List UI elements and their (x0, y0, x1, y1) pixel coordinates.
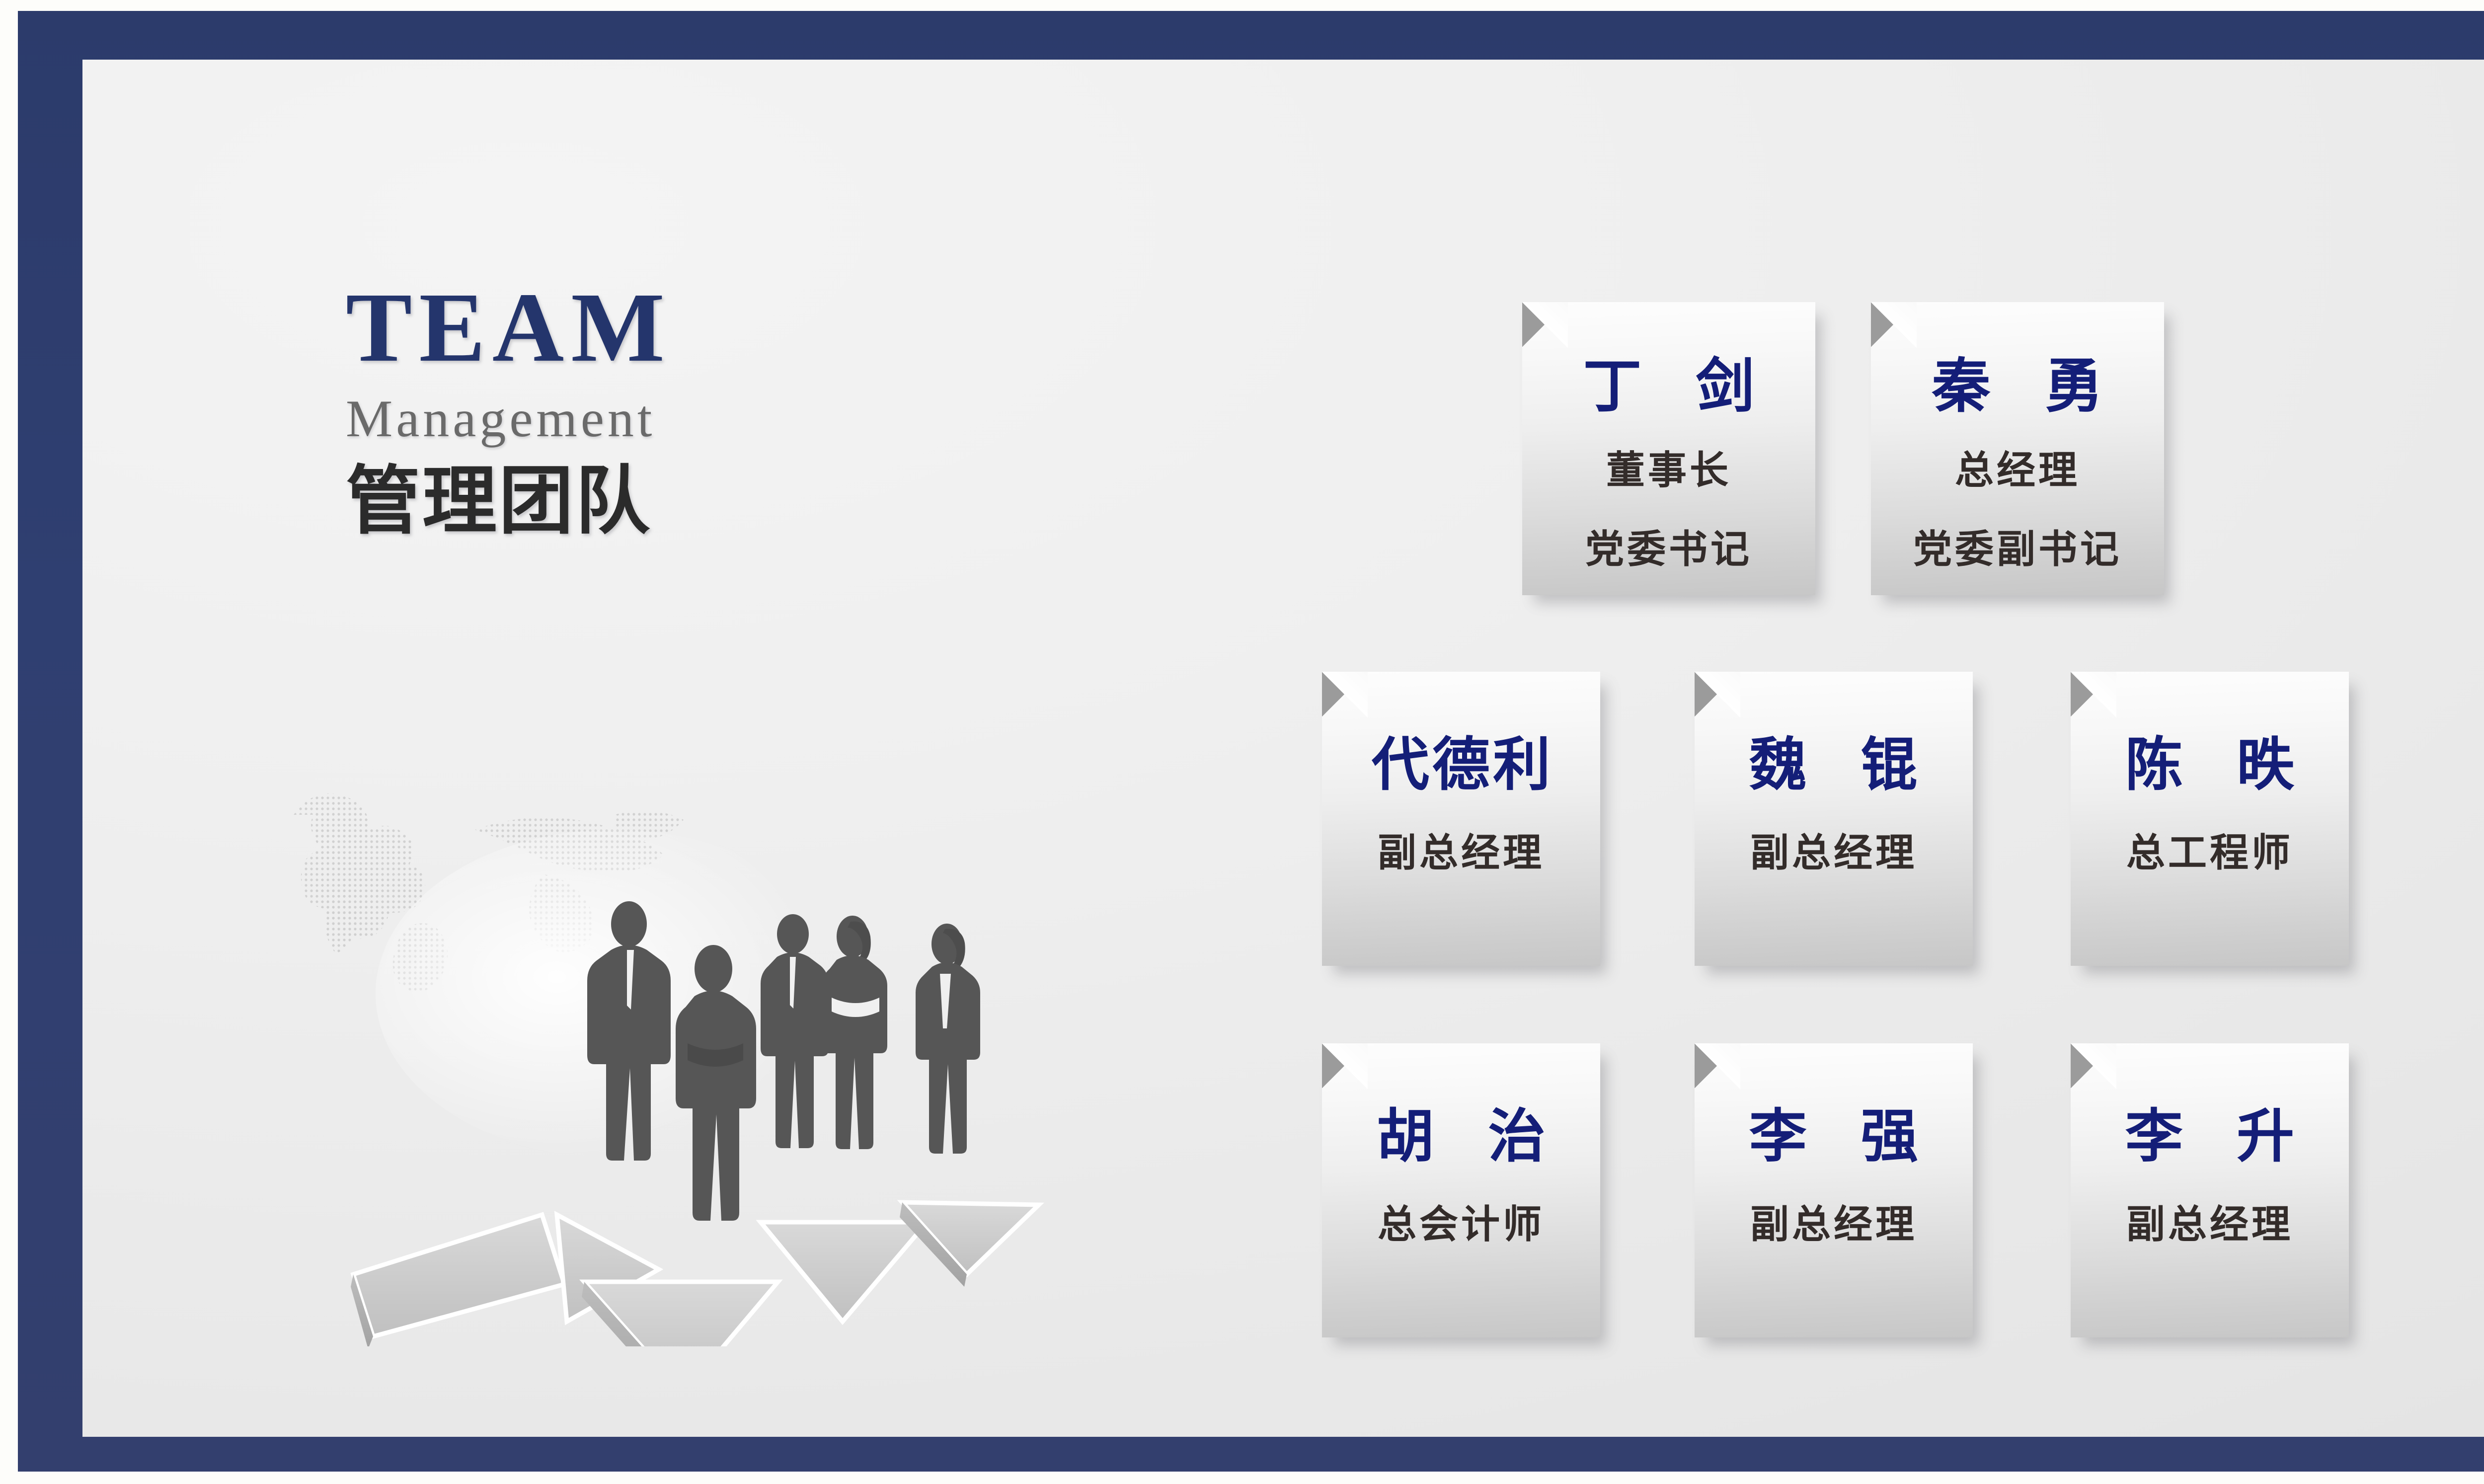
leader-name: 李 强 (1732, 1108, 1935, 1166)
folded-corner-icon (1322, 1043, 1367, 1088)
slide-canvas: TEAM Management 管理团队 (0, 0, 2484, 1484)
leader-name: 代德利 (1369, 736, 1553, 794)
folded-corner-icon (1695, 672, 1739, 716)
slide-content-panel: TEAM Management 管理团队 (82, 60, 2484, 1437)
leader-card[interactable]: 胡 治 总会计师 (1322, 1043, 1600, 1337)
leader-name: 秦 勇 (1915, 357, 2120, 415)
leadership-card-grid: 丁 剑 董事长 党委书记 秦 勇 总经理 党委副书记 代德利 副总经理 (82, 60, 2484, 1437)
leader-card[interactable]: 丁 剑 董事长 党委书记 (1522, 302, 1815, 595)
leader-title-1: 副总经理 (1378, 830, 1545, 877)
leader-title-2: 党委书记 (1585, 526, 1752, 573)
leader-name: 魏 锟 (1732, 736, 1935, 794)
leader-name: 胡 治 (1360, 1108, 1562, 1166)
folded-corner-icon (2071, 672, 2115, 716)
leader-title-1: 副总经理 (2126, 1201, 2293, 1249)
folded-corner-icon (1522, 302, 1567, 347)
leader-card[interactable]: 代德利 副总经理 (1322, 672, 1600, 966)
leader-card[interactable]: 李 升 副总经理 (2071, 1043, 2349, 1337)
leader-title-1: 总经理 (1955, 447, 2080, 494)
leader-card[interactable]: 魏 锟 副总经理 (1695, 672, 1973, 966)
leader-title-2: 党委副书记 (1913, 526, 2122, 573)
folded-corner-icon (2071, 1043, 2115, 1088)
slide-border-frame: TEAM Management 管理团队 (18, 11, 2484, 1472)
leader-card[interactable]: 秦 勇 总经理 党委副书记 (1871, 302, 2164, 595)
leader-name: 陈 昳 (2108, 736, 2311, 794)
leader-title-1: 副总经理 (1750, 1201, 1917, 1249)
leader-title-1: 总会计师 (1378, 1201, 1545, 1249)
leader-title-1: 董事长 (1606, 447, 1731, 494)
folded-corner-icon (1695, 1043, 1739, 1088)
leader-card[interactable]: 陈 昳 总工程师 (2071, 672, 2349, 966)
leader-title-1: 总工程师 (2126, 830, 2293, 877)
leader-card[interactable]: 李 强 副总经理 (1695, 1043, 1973, 1337)
leader-name: 丁 剑 (1566, 357, 1771, 415)
leader-name: 李 升 (2108, 1108, 2311, 1166)
folded-corner-icon (1871, 302, 1916, 347)
folded-corner-icon (1322, 672, 1367, 716)
leader-title-1: 副总经理 (1750, 830, 1917, 877)
